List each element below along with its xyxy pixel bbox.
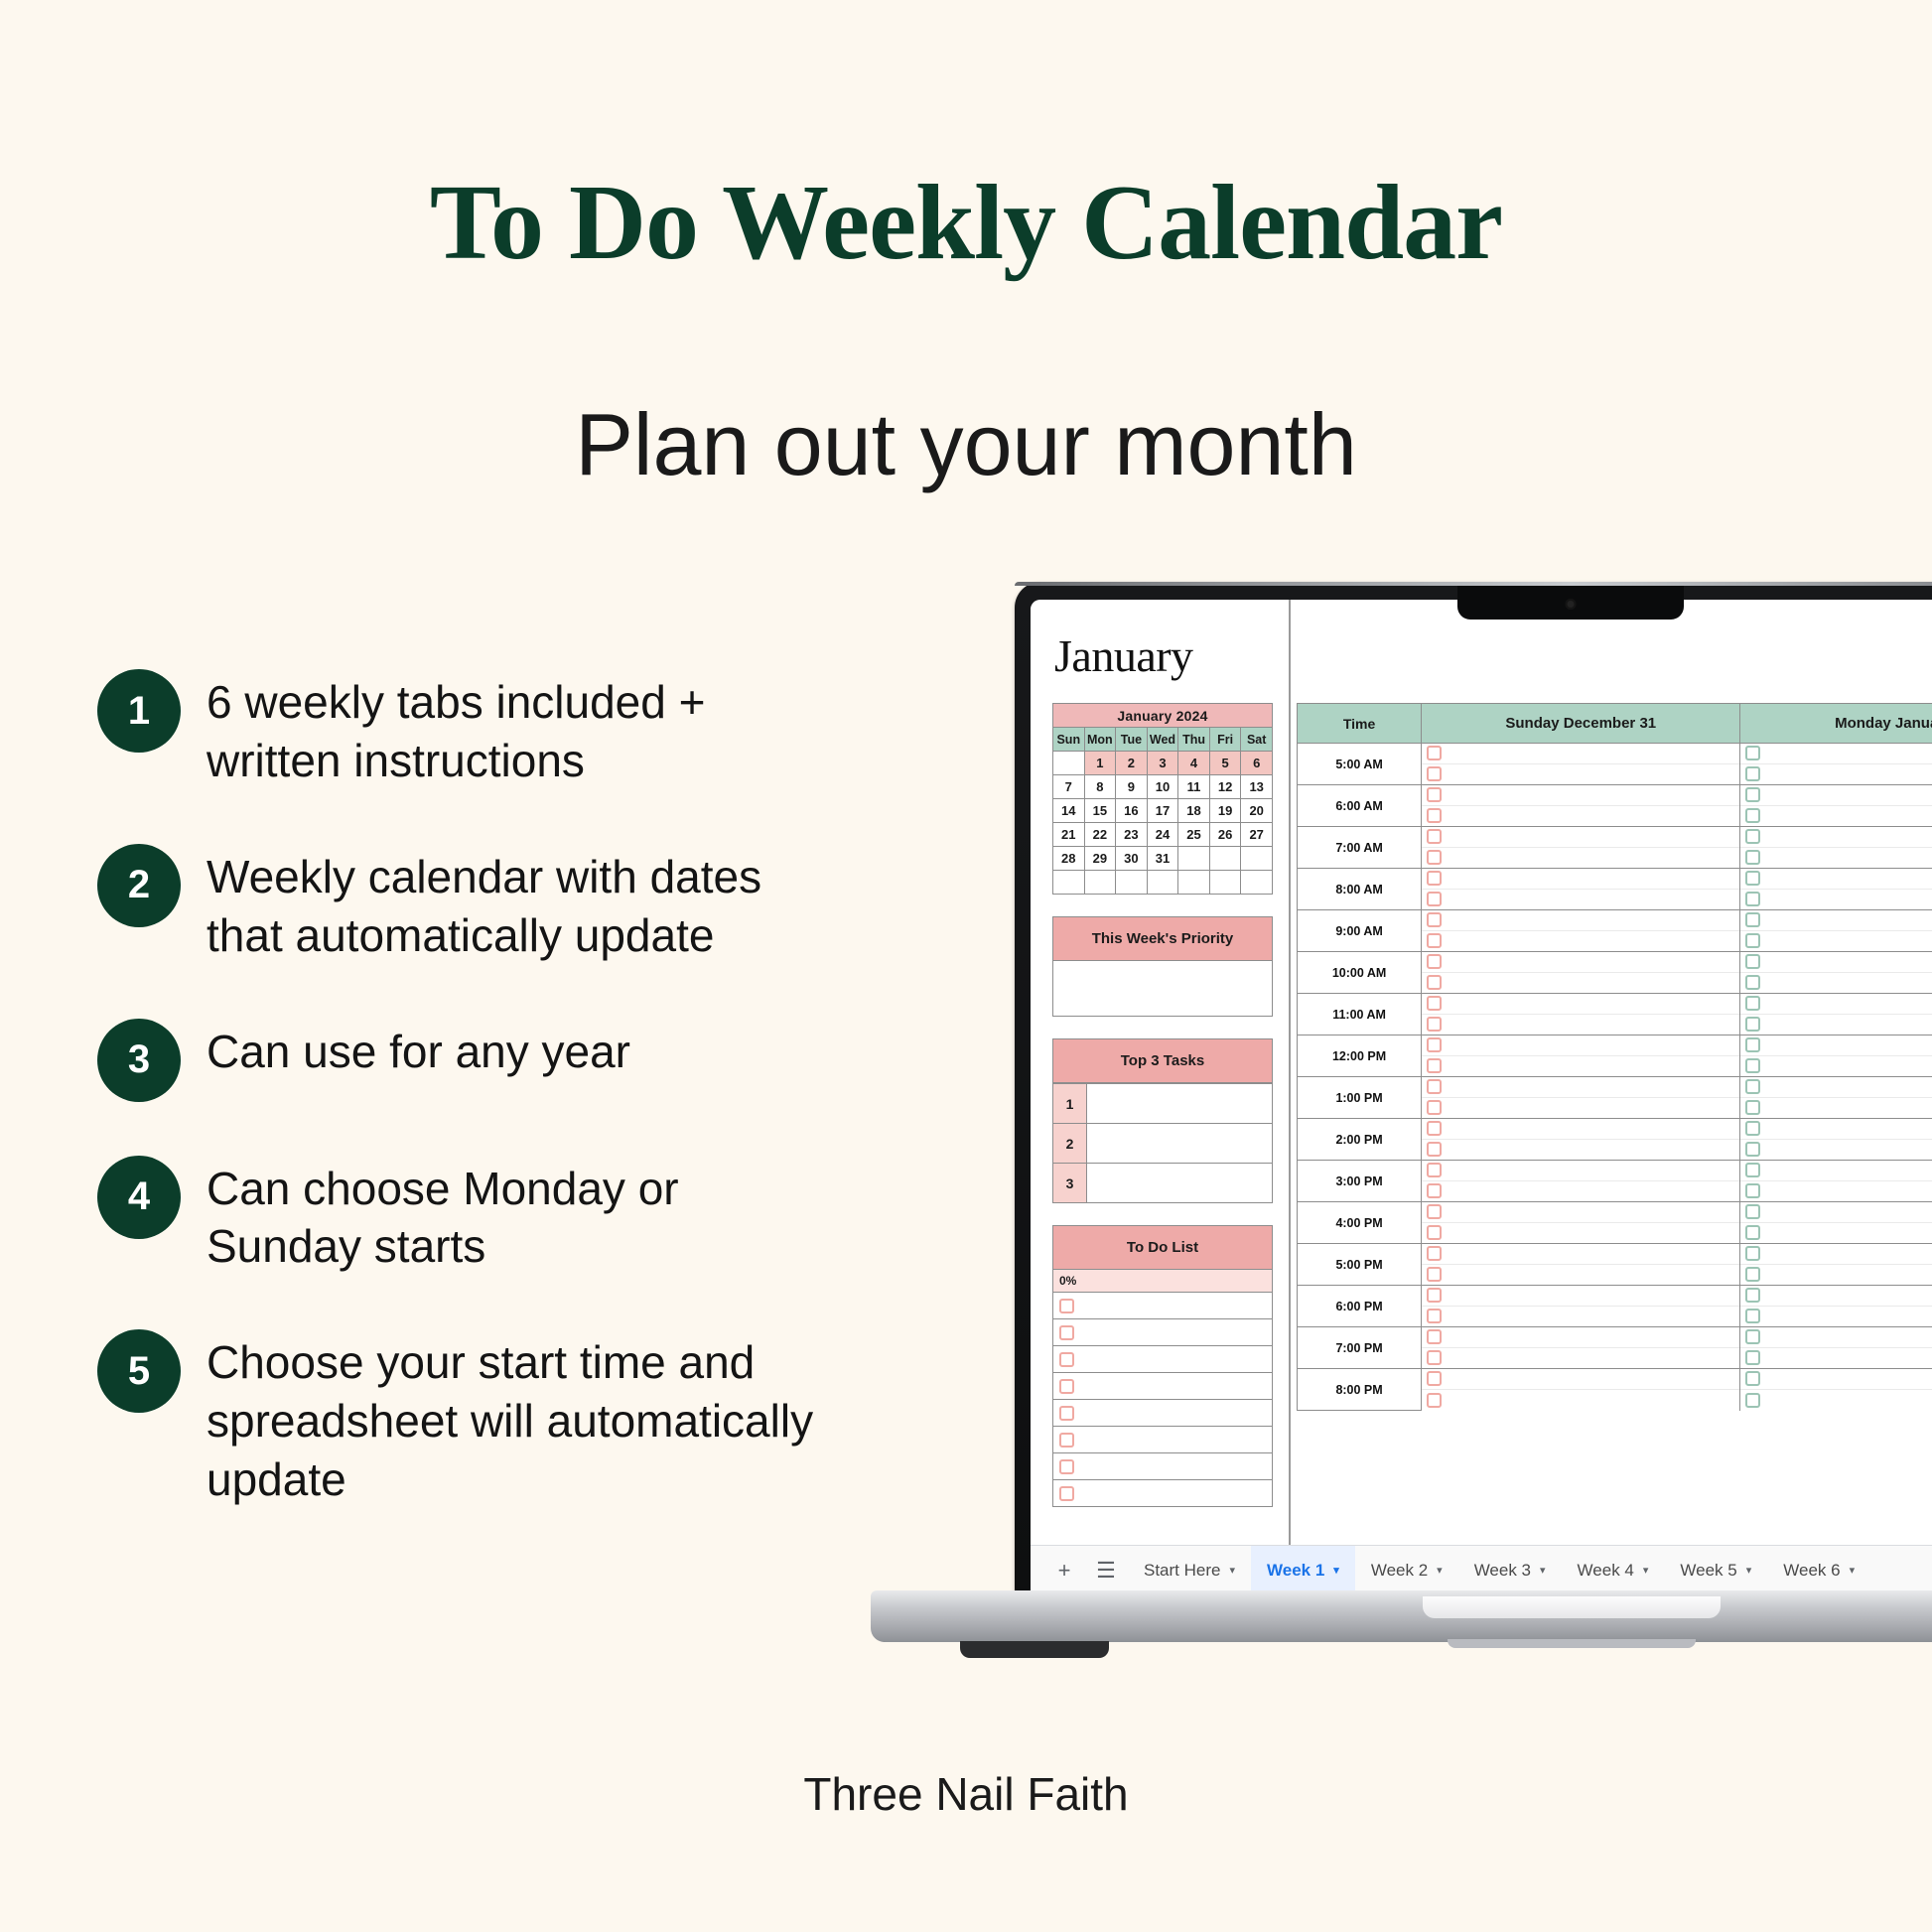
mini-day-cell[interactable]: 23 — [1116, 823, 1148, 847]
schedule-slot[interactable] — [1422, 931, 1740, 952]
feature-item: 16 weekly tabs included + written instru… — [97, 667, 832, 790]
checkbox-icon[interactable] — [1427, 912, 1442, 927]
schedule-row: 6:00 AM — [1298, 785, 1932, 806]
checkbox-icon[interactable] — [1745, 746, 1760, 760]
chevron-down-icon[interactable]: ▾ — [1746, 1564, 1752, 1577]
checkbox-icon[interactable] — [1745, 1142, 1760, 1157]
mini-day-cell[interactable]: 14 — [1053, 799, 1085, 823]
todo-item-row[interactable] — [1052, 1480, 1273, 1507]
mini-day-cell[interactable]: 11 — [1178, 775, 1210, 799]
checkbox-icon[interactable] — [1745, 1121, 1760, 1136]
mini-day-cell[interactable]: 19 — [1209, 799, 1241, 823]
laptop-base-notch — [1423, 1596, 1721, 1618]
checkbox-icon[interactable] — [1059, 1352, 1074, 1367]
schedule-slot[interactable] — [1740, 1077, 1932, 1098]
schedule-slot[interactable] — [1422, 994, 1740, 1015]
checkbox-icon[interactable] — [1745, 1058, 1760, 1073]
mini-day-cell[interactable] — [1116, 871, 1148, 895]
schedule-table[interactable]: TimeSunday December 31Monday January 1Tu… — [1297, 703, 1932, 1411]
schedule-slot[interactable] — [1740, 869, 1932, 890]
checkbox-icon[interactable] — [1745, 871, 1760, 886]
sheet-tab-label: Week 5 — [1680, 1561, 1736, 1581]
checkbox-icon[interactable] — [1427, 1121, 1442, 1136]
mini-day-header: Thu — [1178, 728, 1210, 752]
mini-day-cell[interactable]: 10 — [1147, 775, 1178, 799]
checkbox-icon[interactable] — [1745, 1393, 1760, 1408]
schedule-slot[interactable] — [1740, 1015, 1932, 1035]
schedule-slot[interactable] — [1422, 1265, 1740, 1286]
schedule-slot[interactable] — [1422, 785, 1740, 806]
schedule-slot[interactable] — [1422, 848, 1740, 869]
checkbox-icon[interactable] — [1745, 1309, 1760, 1323]
schedule-slot[interactable] — [1422, 1286, 1740, 1307]
schedule-slot[interactable] — [1740, 973, 1932, 994]
checkbox-icon[interactable] — [1427, 1204, 1442, 1219]
sheet-tab-label: Week 2 — [1371, 1561, 1428, 1581]
sheet-tab-week-2[interactable]: Week 2▾ — [1355, 1546, 1458, 1595]
schedule-time-header: Time — [1298, 704, 1422, 744]
schedule-slot[interactable] — [1740, 744, 1932, 764]
chevron-down-icon[interactable]: ▾ — [1643, 1564, 1649, 1577]
schedule-slot[interactable] — [1422, 827, 1740, 848]
schedule-time-cell: 4:00 PM — [1298, 1202, 1422, 1244]
schedule-slot[interactable] — [1740, 1181, 1932, 1202]
spreadsheet: January January 2024SunMonTueWedThuFriSa… — [1031, 600, 1932, 1594]
add-sheet-button[interactable]: + — [1044, 1558, 1084, 1584]
mini-week-row: 28293031 — [1053, 847, 1273, 871]
schedule-row: 4:00 PM — [1298, 1202, 1932, 1223]
schedule-grid[interactable]: TimeSunday December 31Monday January 1Tu… — [1297, 703, 1932, 1594]
mini-calendar-title: January 2024 — [1053, 704, 1273, 728]
todo-item-row[interactable] — [1052, 1373, 1273, 1400]
checkbox-icon[interactable] — [1745, 1329, 1760, 1344]
todo-item-row[interactable] — [1052, 1400, 1273, 1427]
checkbox-icon[interactable] — [1059, 1406, 1074, 1421]
schedule-slot[interactable] — [1422, 1161, 1740, 1181]
feature-list: 16 weekly tabs included + written instru… — [97, 667, 832, 1561]
schedule-row: 9:00 AM — [1298, 910, 1932, 931]
checkbox-icon[interactable] — [1059, 1299, 1074, 1313]
checkbox-icon[interactable] — [1427, 1183, 1442, 1198]
checkbox-icon[interactable] — [1745, 933, 1760, 948]
checkbox-icon[interactable] — [1427, 766, 1442, 781]
schedule-time-cell: 1:00 PM — [1298, 1077, 1422, 1119]
checkbox-icon[interactable] — [1427, 1288, 1442, 1303]
schedule-slot[interactable] — [1740, 848, 1932, 869]
checkbox-icon[interactable] — [1427, 1058, 1442, 1073]
checkbox-icon[interactable] — [1745, 1267, 1760, 1282]
checkbox-icon[interactable] — [1427, 1017, 1442, 1032]
todo-title: To Do List — [1052, 1225, 1273, 1270]
todo-block: To Do List 0% — [1052, 1225, 1273, 1507]
mini-day-cell[interactable]: 30 — [1116, 847, 1148, 871]
checkbox-icon[interactable] — [1745, 1371, 1760, 1386]
checkbox-icon[interactable] — [1745, 954, 1760, 969]
schedule-slot[interactable] — [1422, 1307, 1740, 1327]
feature-item: 5Choose your start time and spreadsheet … — [97, 1327, 832, 1509]
checkbox-icon[interactable] — [1745, 892, 1760, 906]
checkbox-icon[interactable] — [1745, 787, 1760, 802]
checkbox-icon[interactable] — [1745, 1288, 1760, 1303]
schedule-time-cell: 9:00 AM — [1298, 910, 1422, 952]
schedule-slot[interactable] — [1422, 1369, 1740, 1390]
schedule-row: 10:00 AM — [1298, 952, 1932, 973]
feature-text: Choose your start time and spreadsheet w… — [207, 1327, 822, 1509]
schedule-time-cell: 7:00 AM — [1298, 827, 1422, 869]
checkbox-icon[interactable] — [1427, 787, 1442, 802]
schedule-row: 1:00 PM — [1298, 1077, 1932, 1098]
checkbox-icon[interactable] — [1427, 1225, 1442, 1240]
schedule-row: 5:00 AM — [1298, 744, 1932, 764]
schedule-row: 7:00 PM — [1298, 1327, 1932, 1348]
checkbox-icon[interactable] — [1427, 996, 1442, 1011]
schedule-slot[interactable] — [1740, 806, 1932, 827]
checkbox-icon[interactable] — [1745, 1079, 1760, 1094]
sheet-tab-week-4[interactable]: Week 4▾ — [1562, 1546, 1665, 1595]
sheet-tab-label: Week 4 — [1578, 1561, 1634, 1581]
mini-day-cell[interactable]: 28 — [1053, 847, 1085, 871]
schedule-slot[interactable] — [1740, 994, 1932, 1015]
checkbox-icon[interactable] — [1059, 1433, 1074, 1448]
schedule-slot[interactable] — [1422, 1077, 1740, 1098]
mini-day-cell[interactable]: 26 — [1209, 823, 1241, 847]
schedule-slot[interactable] — [1422, 1244, 1740, 1265]
schedule-slot[interactable] — [1740, 1286, 1932, 1307]
sheet-tab-week-5[interactable]: Week 5▾ — [1664, 1546, 1767, 1595]
feature-item: 3Can use for any year — [97, 1017, 832, 1102]
mini-day-cell[interactable]: 9 — [1116, 775, 1148, 799]
checkbox-icon[interactable] — [1745, 808, 1760, 823]
mini-day-cell[interactable]: 27 — [1241, 823, 1273, 847]
schedule-slot[interactable] — [1740, 1307, 1932, 1327]
chevron-down-icon[interactable]: ▾ — [1333, 1564, 1339, 1577]
sheet-tab-week-3[interactable]: Week 3▾ — [1458, 1546, 1562, 1595]
mini-day-header: Fri — [1209, 728, 1241, 752]
mini-day-header: Mon — [1084, 728, 1116, 752]
feature-item: 2Weekly calendar with dates that automat… — [97, 842, 832, 965]
checkbox-icon[interactable] — [1427, 808, 1442, 823]
checkbox-icon[interactable] — [1427, 892, 1442, 906]
schedule-row: 8:00 AM — [1298, 869, 1932, 890]
brand-name: Three Nail Faith — [0, 1767, 1932, 1821]
checkbox-icon[interactable] — [1745, 975, 1760, 990]
top3-input[interactable] — [1087, 1164, 1273, 1203]
schedule-slot[interactable] — [1740, 1390, 1932, 1411]
sheet-tab-label: Week 1 — [1267, 1561, 1324, 1581]
mini-day-header: Sun — [1053, 728, 1085, 752]
mini-day-cell[interactable]: 4 — [1178, 752, 1210, 775]
mini-day-cell[interactable]: 29 — [1084, 847, 1116, 871]
schedule-slot[interactable] — [1422, 952, 1740, 973]
schedule-slot[interactable] — [1422, 1015, 1740, 1035]
feature-number-badge: 3 — [97, 1019, 181, 1102]
feature-number-badge: 2 — [97, 844, 181, 927]
schedule-slot[interactable] — [1422, 1327, 1740, 1348]
mini-day-cell[interactable]: 16 — [1116, 799, 1148, 823]
schedule-slot[interactable] — [1740, 1140, 1932, 1161]
mini-day-cell[interactable] — [1178, 847, 1210, 871]
checkbox-icon[interactable] — [1745, 829, 1760, 844]
schedule-slot[interactable] — [1422, 1390, 1740, 1411]
checkbox-icon[interactable] — [1427, 1371, 1442, 1386]
mini-day-cell[interactable]: 15 — [1084, 799, 1116, 823]
laptop-screen: January January 2024SunMonTueWedThuFriSa… — [1031, 600, 1932, 1594]
schedule-row: 7:00 AM — [1298, 827, 1932, 848]
checkbox-icon[interactable] — [1745, 1204, 1760, 1219]
schedule-time-cell: 11:00 AM — [1298, 994, 1422, 1035]
sheet-tab-start-here[interactable]: Start Here▾ — [1128, 1546, 1251, 1595]
mini-day-cell[interactable] — [1209, 871, 1241, 895]
page-title: To Do Weekly Calendar — [0, 167, 1932, 279]
todo-items[interactable] — [1052, 1293, 1273, 1507]
priority-block: This Week's Priority — [1052, 916, 1273, 1017]
mini-day-header: Tue — [1116, 728, 1148, 752]
checkbox-icon[interactable] — [1745, 1183, 1760, 1198]
checkbox-icon[interactable] — [1745, 766, 1760, 781]
checkbox-icon[interactable] — [1427, 871, 1442, 886]
todo-item-row[interactable] — [1052, 1346, 1273, 1373]
mini-day-cell[interactable] — [1053, 871, 1085, 895]
checkbox-icon[interactable] — [1427, 1037, 1442, 1052]
mini-day-header: Sat — [1241, 728, 1273, 752]
schedule-slot[interactable] — [1422, 1202, 1740, 1223]
checkbox-icon[interactable] — [1427, 1163, 1442, 1177]
mini-week-row: 123456 — [1053, 752, 1273, 775]
schedule-slot[interactable] — [1740, 910, 1932, 931]
checkbox-icon[interactable] — [1427, 850, 1442, 865]
promo-page: To Do Weekly Calendar Plan out your mont… — [0, 0, 1932, 1932]
top3-input[interactable] — [1087, 1084, 1273, 1124]
top3-number: 3 — [1053, 1164, 1087, 1203]
schedule-slot[interactable] — [1422, 744, 1740, 764]
checkbox-icon[interactable] — [1745, 912, 1760, 927]
mini-day-cell[interactable]: 24 — [1147, 823, 1178, 847]
schedule-slot[interactable] — [1740, 1056, 1932, 1077]
schedule-row: 3:00 PM — [1298, 1161, 1932, 1181]
schedule-time-cell: 12:00 PM — [1298, 1035, 1422, 1077]
mini-day-cell[interactable]: 17 — [1147, 799, 1178, 823]
mini-day-cell[interactable]: 2 — [1116, 752, 1148, 775]
laptop-mockup: January January 2024SunMonTueWedThuFriSa… — [1015, 582, 1932, 1594]
top3-row: 1 — [1053, 1084, 1273, 1124]
schedule-slot[interactable] — [1422, 1056, 1740, 1077]
mini-day-cell[interactable] — [1241, 871, 1273, 895]
schedule-slot[interactable] — [1740, 764, 1932, 785]
schedule-slot[interactable] — [1422, 806, 1740, 827]
checkbox-icon[interactable] — [1427, 1267, 1442, 1282]
checkbox-icon[interactable] — [1427, 1329, 1442, 1344]
checkbox-icon[interactable] — [1059, 1379, 1074, 1394]
checkbox-icon[interactable] — [1745, 1225, 1760, 1240]
mini-day-cell[interactable] — [1147, 871, 1178, 895]
checkbox-icon[interactable] — [1427, 746, 1442, 760]
schedule-slot[interactable] — [1422, 1119, 1740, 1140]
checkbox-icon[interactable] — [1427, 975, 1442, 990]
schedule-time-cell: 7:00 PM — [1298, 1327, 1422, 1369]
schedule-slot[interactable] — [1740, 827, 1932, 848]
left-panel: January 2024SunMonTueWedThuFriSat1234567… — [1052, 703, 1273, 1507]
schedule-slot[interactable] — [1422, 1098, 1740, 1119]
top3-title: Top 3 Tasks — [1052, 1038, 1273, 1083]
schedule-time-cell: 8:00 PM — [1298, 1369, 1422, 1411]
schedule-time-cell: 10:00 AM — [1298, 952, 1422, 994]
mini-day-cell[interactable]: 7 — [1053, 775, 1085, 799]
checkbox-icon[interactable] — [1745, 1350, 1760, 1365]
mini-week-row: 78910111213 — [1053, 775, 1273, 799]
schedule-slot[interactable] — [1422, 910, 1740, 931]
schedule-row: 2:00 PM — [1298, 1119, 1932, 1140]
schedule-slot[interactable] — [1422, 1223, 1740, 1244]
month-heading: January — [1054, 629, 1193, 682]
top3-number: 1 — [1053, 1084, 1087, 1124]
schedule-row: 6:00 PM — [1298, 1286, 1932, 1307]
priority-title: This Week's Priority — [1052, 916, 1273, 961]
mini-day-cell[interactable] — [1241, 847, 1273, 871]
schedule-slot[interactable] — [1740, 1369, 1932, 1390]
feature-item: 4Can choose Monday or Sunday starts — [97, 1154, 832, 1277]
schedule-row: 8:00 PM — [1298, 1369, 1932, 1390]
chevron-down-icon[interactable]: ▾ — [1850, 1564, 1856, 1577]
top3-table[interactable]: 123 — [1052, 1083, 1273, 1203]
checkbox-icon[interactable] — [1427, 1142, 1442, 1157]
schedule-slot[interactable] — [1740, 952, 1932, 973]
schedule-slot[interactable] — [1740, 1223, 1932, 1244]
mini-day-cell[interactable] — [1053, 752, 1085, 775]
schedule-slot[interactable] — [1740, 1119, 1932, 1140]
checkbox-icon[interactable] — [1427, 1246, 1442, 1261]
checkbox-icon[interactable] — [1427, 1309, 1442, 1323]
feature-number-badge: 1 — [97, 669, 181, 753]
todo-item-row[interactable] — [1052, 1319, 1273, 1346]
todo-item-row[interactable] — [1052, 1427, 1273, 1453]
mini-day-cell[interactable]: 18 — [1178, 799, 1210, 823]
mini-day-cell[interactable]: 5 — [1209, 752, 1241, 775]
laptop-base — [871, 1590, 1932, 1642]
schedule-slot[interactable] — [1422, 1348, 1740, 1369]
mini-day-cell[interactable]: 22 — [1084, 823, 1116, 847]
schedule-slot[interactable] — [1740, 1348, 1932, 1369]
feature-text: Weekly calendar with dates that automati… — [207, 842, 822, 965]
checkbox-icon[interactable] — [1745, 1246, 1760, 1261]
mini-day-header: Wed — [1147, 728, 1178, 752]
checkbox-icon[interactable] — [1059, 1459, 1074, 1474]
todo-item-row[interactable] — [1052, 1453, 1273, 1480]
schedule-slot[interactable] — [1740, 1161, 1932, 1181]
checkbox-icon[interactable] — [1745, 1037, 1760, 1052]
schedule-slot[interactable] — [1740, 1202, 1932, 1223]
top3-row: 3 — [1053, 1164, 1273, 1203]
mini-day-cell[interactable]: 31 — [1147, 847, 1178, 871]
checkbox-icon[interactable] — [1059, 1325, 1074, 1340]
mini-day-cell[interactable] — [1178, 871, 1210, 895]
mini-week-row — [1053, 871, 1273, 895]
laptop-foot — [960, 1641, 1109, 1658]
schedule-slot[interactable] — [1422, 764, 1740, 785]
panel-divider — [1289, 600, 1291, 1594]
schedule-slot[interactable] — [1740, 785, 1932, 806]
feature-number-badge: 5 — [97, 1329, 181, 1413]
mini-week-row: 21222324252627 — [1053, 823, 1273, 847]
mini-calendar[interactable]: January 2024SunMonTueWedThuFriSat1234567… — [1052, 703, 1273, 895]
mini-day-cell[interactable]: 20 — [1241, 799, 1273, 823]
checkbox-icon[interactable] — [1745, 1017, 1760, 1032]
schedule-slot[interactable] — [1422, 973, 1740, 994]
schedule-slot[interactable] — [1422, 1035, 1740, 1056]
schedule-slot[interactable] — [1422, 890, 1740, 910]
chevron-down-icon[interactable]: ▾ — [1229, 1564, 1235, 1577]
mini-day-cell[interactable]: 21 — [1053, 823, 1085, 847]
mini-day-cell[interactable] — [1084, 871, 1116, 895]
schedule-slot[interactable] — [1740, 1035, 1932, 1056]
schedule-time-cell: 8:00 AM — [1298, 869, 1422, 910]
mini-day-cell[interactable]: 1 — [1084, 752, 1116, 775]
feature-number-badge: 4 — [97, 1156, 181, 1239]
sheet-tab-label: Start Here — [1144, 1561, 1220, 1581]
all-sheets-menu-icon[interactable]: ☰ — [1086, 1558, 1126, 1584]
checkbox-icon[interactable] — [1427, 1079, 1442, 1094]
schedule-slot[interactable] — [1740, 1265, 1932, 1286]
checkbox-icon[interactable] — [1427, 1100, 1442, 1115]
schedule-time-cell: 3:00 PM — [1298, 1161, 1422, 1202]
schedule-slot[interactable] — [1740, 1327, 1932, 1348]
laptop-lid: January January 2024SunMonTueWedThuFriSa… — [1015, 582, 1932, 1594]
schedule-slot[interactable] — [1740, 890, 1932, 910]
sheet-tab-bar[interactable]: + ☰ Start Here▾Week 1▾Week 2▾Week 3▾Week… — [1031, 1545, 1932, 1594]
schedule-slot[interactable] — [1740, 1098, 1932, 1119]
schedule-row: 12:00 PM — [1298, 1035, 1932, 1056]
top3-input[interactable] — [1087, 1124, 1273, 1164]
schedule-slot[interactable] — [1740, 1244, 1932, 1265]
mini-day-cell[interactable]: 25 — [1178, 823, 1210, 847]
mini-day-cell[interactable]: 8 — [1084, 775, 1116, 799]
schedule-day-header: Monday January 1 — [1740, 704, 1932, 744]
checkbox-icon[interactable] — [1427, 933, 1442, 948]
mini-week-row: 14151617181920 — [1053, 799, 1273, 823]
mini-day-cell[interactable]: 13 — [1241, 775, 1273, 799]
checkbox-icon[interactable] — [1427, 829, 1442, 844]
mini-day-cell[interactable]: 12 — [1209, 775, 1241, 799]
checkbox-icon[interactable] — [1745, 1163, 1760, 1177]
mini-day-cell[interactable] — [1209, 847, 1241, 871]
schedule-time-cell: 5:00 PM — [1298, 1244, 1422, 1286]
sheet-tab-week-1[interactable]: Week 1▾ — [1251, 1546, 1355, 1595]
schedule-slot[interactable] — [1422, 1140, 1740, 1161]
schedule-slot[interactable] — [1422, 869, 1740, 890]
schedule-day-header: Sunday December 31 — [1422, 704, 1740, 744]
top3-row: 2 — [1053, 1124, 1273, 1164]
checkbox-icon[interactable] — [1427, 1350, 1442, 1365]
mini-day-cell[interactable]: 3 — [1147, 752, 1178, 775]
schedule-header-row: TimeSunday December 31Monday January 1Tu… — [1298, 704, 1932, 744]
mini-day-cell[interactable]: 6 — [1241, 752, 1273, 775]
todo-item-row[interactable] — [1052, 1293, 1273, 1319]
checkbox-icon[interactable] — [1745, 850, 1760, 865]
checkbox-icon[interactable] — [1745, 996, 1760, 1011]
chevron-down-icon[interactable]: ▾ — [1540, 1564, 1546, 1577]
sheet-tab-label: Week 6 — [1783, 1561, 1840, 1581]
priority-input[interactable] — [1052, 961, 1273, 1017]
checkbox-icon[interactable] — [1059, 1486, 1074, 1501]
schedule-slot[interactable] — [1422, 1181, 1740, 1202]
checkbox-icon[interactable] — [1745, 1100, 1760, 1115]
schedule-slot[interactable] — [1740, 931, 1932, 952]
checkbox-icon[interactable] — [1427, 1393, 1442, 1408]
feature-text: 6 weekly tabs included + written instruc… — [207, 667, 822, 790]
checkbox-icon[interactable] — [1427, 954, 1442, 969]
chevron-down-icon[interactable]: ▾ — [1437, 1564, 1443, 1577]
schedule-time-cell: 5:00 AM — [1298, 744, 1422, 785]
sheet-tab-week-6[interactable]: Week 6▾ — [1767, 1546, 1870, 1595]
